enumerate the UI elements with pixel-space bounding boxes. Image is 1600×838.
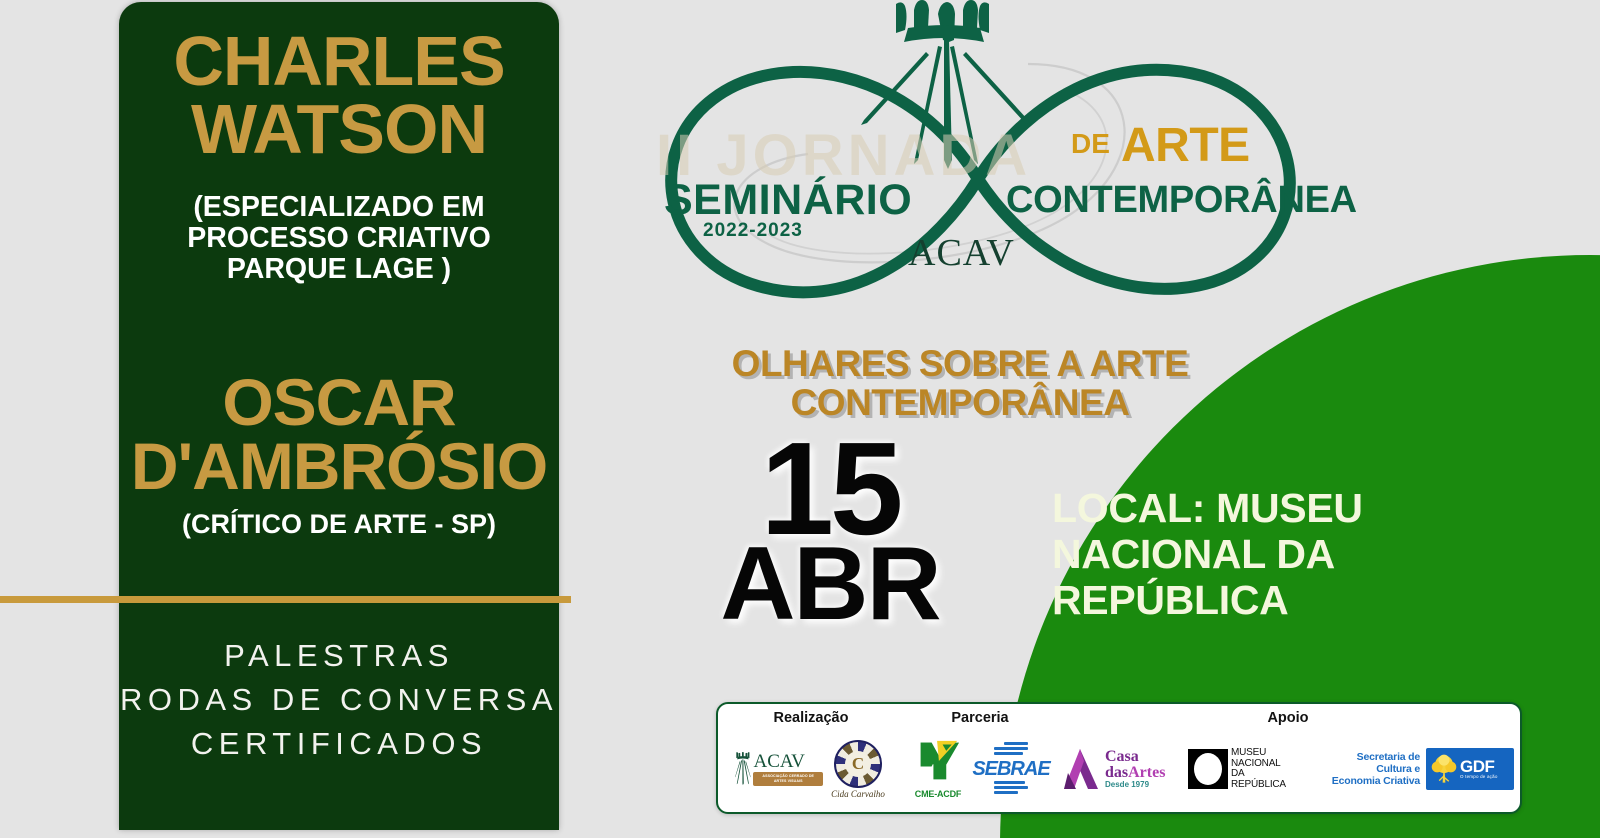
logo-years-text: 2022-2023 — [703, 220, 803, 242]
speaker-2-name: OSCARD'AMBRÓSIO — [119, 370, 559, 498]
acav-logo: ACAV ASSOCIAÇÃO CERRADO DE ARTES VISUAIS — [735, 742, 823, 796]
sebrae-bars-icon-2 — [994, 781, 1028, 796]
museu-line1: MUSEU — [1231, 748, 1286, 759]
speaker-1-name: CHARLESWATSON — [119, 28, 559, 164]
gdf-tree-icon — [1430, 754, 1458, 784]
sebrae-bars-icon — [994, 742, 1028, 757]
museu-nacional-logo: MUSEU NACIONAL DA REPÚBLICA — [1188, 748, 1306, 790]
gold-divider — [0, 596, 571, 603]
cida-carvalho-logo: Cida Carvalho — [829, 740, 887, 799]
poster-canvas: II JORNADA SEMINÁRIO 2022-2023 DE ARTE C… — [0, 0, 1600, 838]
sponsor-group-title: Parceria — [904, 704, 1056, 726]
cme-mark-icon — [915, 739, 961, 783]
acav-wordmark: ACAV — [753, 752, 823, 771]
candangos-small-icon — [735, 747, 752, 791]
cme-acdf-logo: CME-ACDF — [910, 739, 966, 799]
museu-dome-icon — [1188, 749, 1228, 789]
speaker-2-credential: (CRÍTICO DE ARTE - SP) — [139, 510, 539, 539]
sebrae-logo: SEBRAE — [972, 742, 1050, 796]
logo-seminario-text: SEMINÁRIO — [664, 176, 912, 225]
secretaria-cultura-logo: Secretaria deCultura eEconomia Criativa — [1312, 751, 1420, 787]
event-date: 15 ABR — [700, 438, 960, 628]
sponsor-group-title: Realização — [718, 704, 904, 726]
activities-list: PALESTRASRODAS DE CONVERSACERTIFICADOS — [119, 634, 559, 766]
museu-line4: REPÚBLICA — [1231, 780, 1286, 791]
casa-das-artes-logo: Casa dasArtes Desde 1979 — [1062, 747, 1182, 791]
speakers-panel: CHARLESWATSON (ESPECIALIZADO EM PROCESSO… — [119, 2, 559, 830]
event-date-month: ABR — [700, 541, 960, 628]
casa-line2b: Artes — [1128, 764, 1165, 781]
casa-line1: Casa — [1105, 749, 1165, 765]
event-venue: LOCAL: MUSEU NACIONAL DA REPÚBLICA — [1052, 486, 1472, 624]
logo-arte-text: ARTE — [1121, 118, 1250, 173]
speaker-1-credential: (ESPECIALIZADO EM PROCESSO CRIATIVO PARQ… — [149, 192, 529, 284]
sebrae-wordmark: SEBRAE — [972, 759, 1049, 779]
acav-subtext: ASSOCIAÇÃO CERRADO DE ARTES VISUAIS — [753, 772, 823, 786]
sponsor-group-apoio: Apoio Casa dasArtes Desde 1979 — [1056, 704, 1520, 812]
sponsor-group-realizacao: Realização — [718, 704, 904, 812]
cida-carvalho-name: Cida Carvalho — [829, 789, 887, 799]
cme-acdf-name: CME-ACDF — [910, 789, 966, 799]
medallion-icon — [834, 740, 882, 788]
casa-tent-icon — [1062, 747, 1102, 791]
sponsor-group-title: Apoio — [1056, 704, 1520, 726]
sponsor-bar: Realização — [716, 702, 1522, 814]
logo-acav-text: ACAV — [908, 231, 1015, 275]
casa-line2a: das — [1105, 764, 1128, 781]
logo-contemporanea-text: CONTEMPORÂNEA — [1006, 179, 1357, 222]
logo-de-text: DE — [1071, 128, 1110, 160]
sponsor-group-parceria: Parceria CME-ACDF — [904, 704, 1056, 812]
page-title: OLHARES SOBRE A ARTE CONTEMPORÂNEA — [690, 344, 1230, 422]
gdf-wordmark: GDF — [1460, 758, 1498, 775]
gdf-logo: GDF O tempo de ação — [1426, 748, 1514, 790]
casa-since-text: Desde 1979 — [1105, 781, 1165, 789]
museu-line3: DA — [1231, 769, 1286, 780]
gdf-tagline: O tempo de ação — [1460, 775, 1498, 780]
seminar-logo: II JORNADA SEMINÁRIO 2022-2023 DE ARTE C… — [608, 0, 1348, 324]
